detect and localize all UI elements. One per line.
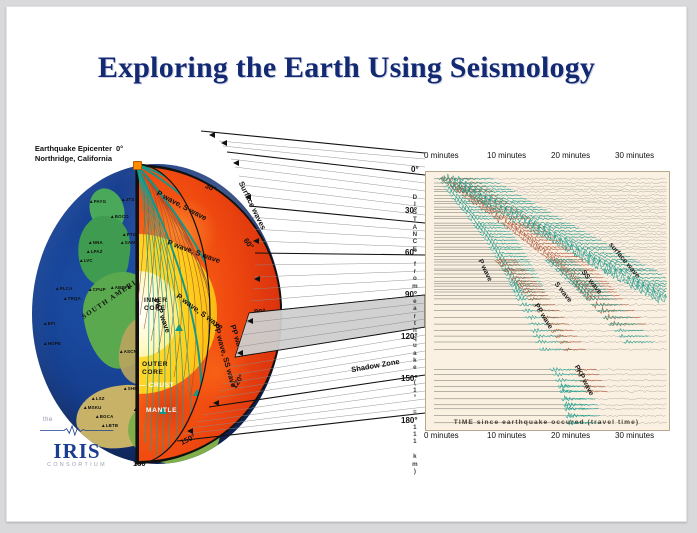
distance-tick-0: 0° bbox=[411, 165, 419, 174]
degree-tick-180: 180° bbox=[133, 459, 149, 468]
epicenter-line2: Northridge, California bbox=[35, 154, 112, 163]
epicenter-line1: Earthquake Epicenter bbox=[35, 144, 112, 153]
time-label-30-top: 30 minutes bbox=[615, 151, 654, 160]
degree-0: 0° bbox=[116, 144, 123, 153]
page-title: Exploring the Earth Using Seismology bbox=[7, 51, 686, 85]
connector-fan bbox=[157, 119, 447, 479]
epicenter-marker bbox=[133, 161, 142, 170]
epicenter-caption: Earthquake Epicenter Northridge, Califor… bbox=[35, 144, 116, 164]
iris-logo: the IRIS CONSORTIUM bbox=[37, 417, 117, 465]
time-label-0-top: 0 minutes bbox=[424, 151, 459, 160]
time-label-0-bottom: 0 minutes bbox=[424, 431, 459, 440]
seismogram-traces bbox=[426, 172, 669, 430]
iris-logo-subtitle: CONSORTIUM bbox=[37, 462, 117, 468]
time-label-10-bottom: 10 minutes bbox=[487, 431, 526, 440]
time-axis-caption: TIME since earthquake occured (travel ti… bbox=[425, 419, 668, 426]
time-label-20-top: 20 minutes bbox=[551, 151, 590, 160]
time-label-30-bottom: 30 minutes bbox=[615, 431, 654, 440]
slide-page: Exploring the Earth Using Seismology SOU… bbox=[6, 6, 687, 522]
distance-axis-label: DISTANCE from earthquake (1° = 111 km) bbox=[409, 194, 421, 475]
iris-logo-name: IRIS bbox=[37, 441, 117, 461]
time-label-10-top: 10 minutes bbox=[487, 151, 526, 160]
seismogram-panel bbox=[425, 171, 670, 431]
seismogram-wave-icon bbox=[40, 425, 113, 436]
epicenter-degree-label: Earthquake Epicenter Northridge, Califor… bbox=[116, 144, 123, 153]
time-label-20-bottom: 20 minutes bbox=[551, 431, 590, 440]
time-axis-bottom: 0 minutes 10 minutes 20 minutes 30 minut… bbox=[425, 431, 675, 443]
time-axis-top: 0 minutes 10 minutes 20 minutes 30 minut… bbox=[425, 151, 675, 163]
iris-logo-the: the bbox=[43, 417, 117, 423]
